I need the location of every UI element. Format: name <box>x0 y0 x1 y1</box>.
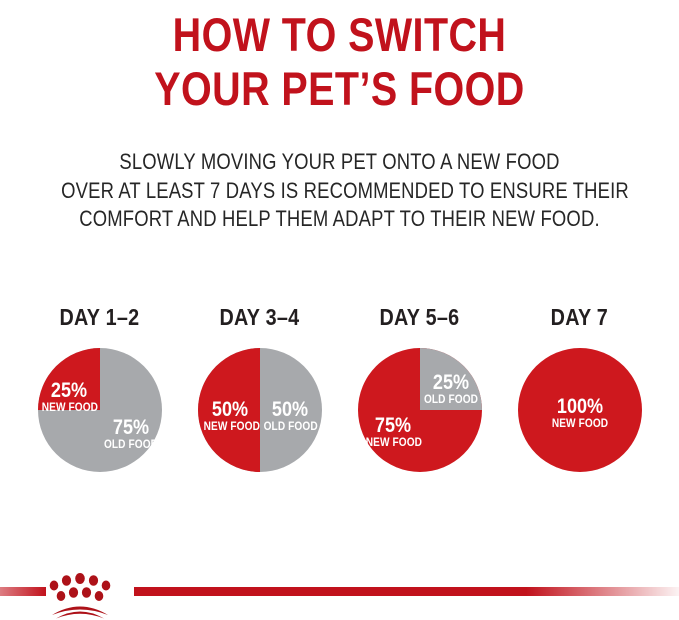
title-line-2: YOUR PET’S FOOD <box>54 62 624 116</box>
pie-slice-new-food <box>38 348 100 410</box>
royal-canin-crown-logo <box>50 573 111 619</box>
footer-brand-bar <box>0 558 679 620</box>
intro-line-3: COMFORT AND HELP THEM ADAPT TO THEIR NEW… <box>61 205 618 234</box>
pie-chart-day-7-svg <box>518 348 642 472</box>
pie-chart-day-5-6: 25% OLD FOOD 75% NEW FOOD <box>358 348 482 472</box>
title-line-1: HOW TO SWITCH <box>54 8 624 62</box>
footer-rule-left <box>0 587 46 596</box>
step-day-1-2: DAY 1–2 25% NEW FOOD 75% OLD FOOD <box>20 305 180 472</box>
pie-chart-day-7: 100% NEW FOOD <box>518 348 642 472</box>
infographic-root: HOW TO SWITCH YOUR PET’S FOOD SLOWLY MOV… <box>0 0 679 620</box>
pie-chart-day-3-4: 50% NEW FOOD 50% OLD FOOD <box>198 348 322 472</box>
pie-chart-day-3-4-svg <box>198 348 322 472</box>
pie-chart-day-5-6-svg <box>358 348 482 472</box>
step-day-3-4: DAY 3–4 50% NEW FOOD 50% OLD FOOD <box>180 305 340 472</box>
day-label-3: DAY 5–6 <box>380 305 460 329</box>
intro-paragraph: SLOWLY MOVING YOUR PET ONTO A NEW FOOD O… <box>0 148 679 234</box>
day-label-4: DAY 7 <box>551 305 608 329</box>
step-day-7: DAY 7 100% NEW FOOD <box>500 305 660 472</box>
pie-slice-old-food <box>420 348 482 410</box>
pie-chart-day-1-2: 25% NEW FOOD 75% OLD FOOD <box>38 348 162 472</box>
pie-chart-day-1-2-svg <box>38 348 162 472</box>
footer-svg <box>0 558 679 620</box>
intro-line-2: OVER AT LEAST 7 DAYS IS RECOMMENDED TO E… <box>61 177 618 206</box>
pie-slice-new-food <box>518 348 642 472</box>
step-day-5-6: DAY 5–6 25% OLD FOOD 75% NEW FOOD <box>340 305 500 472</box>
day-label-1: DAY 1–2 <box>60 305 140 329</box>
day-label-2: DAY 3–4 <box>220 305 300 329</box>
footer-rule-right <box>134 587 679 596</box>
pie-slice-new-food <box>198 348 260 472</box>
page-title: HOW TO SWITCH YOUR PET’S FOOD <box>0 8 679 116</box>
intro-line-1: SLOWLY MOVING YOUR PET ONTO A NEW FOOD <box>61 148 618 177</box>
transition-schedule-charts: DAY 1–2 25% NEW FOOD 75% OLD FOOD DAY 3–… <box>0 305 679 485</box>
